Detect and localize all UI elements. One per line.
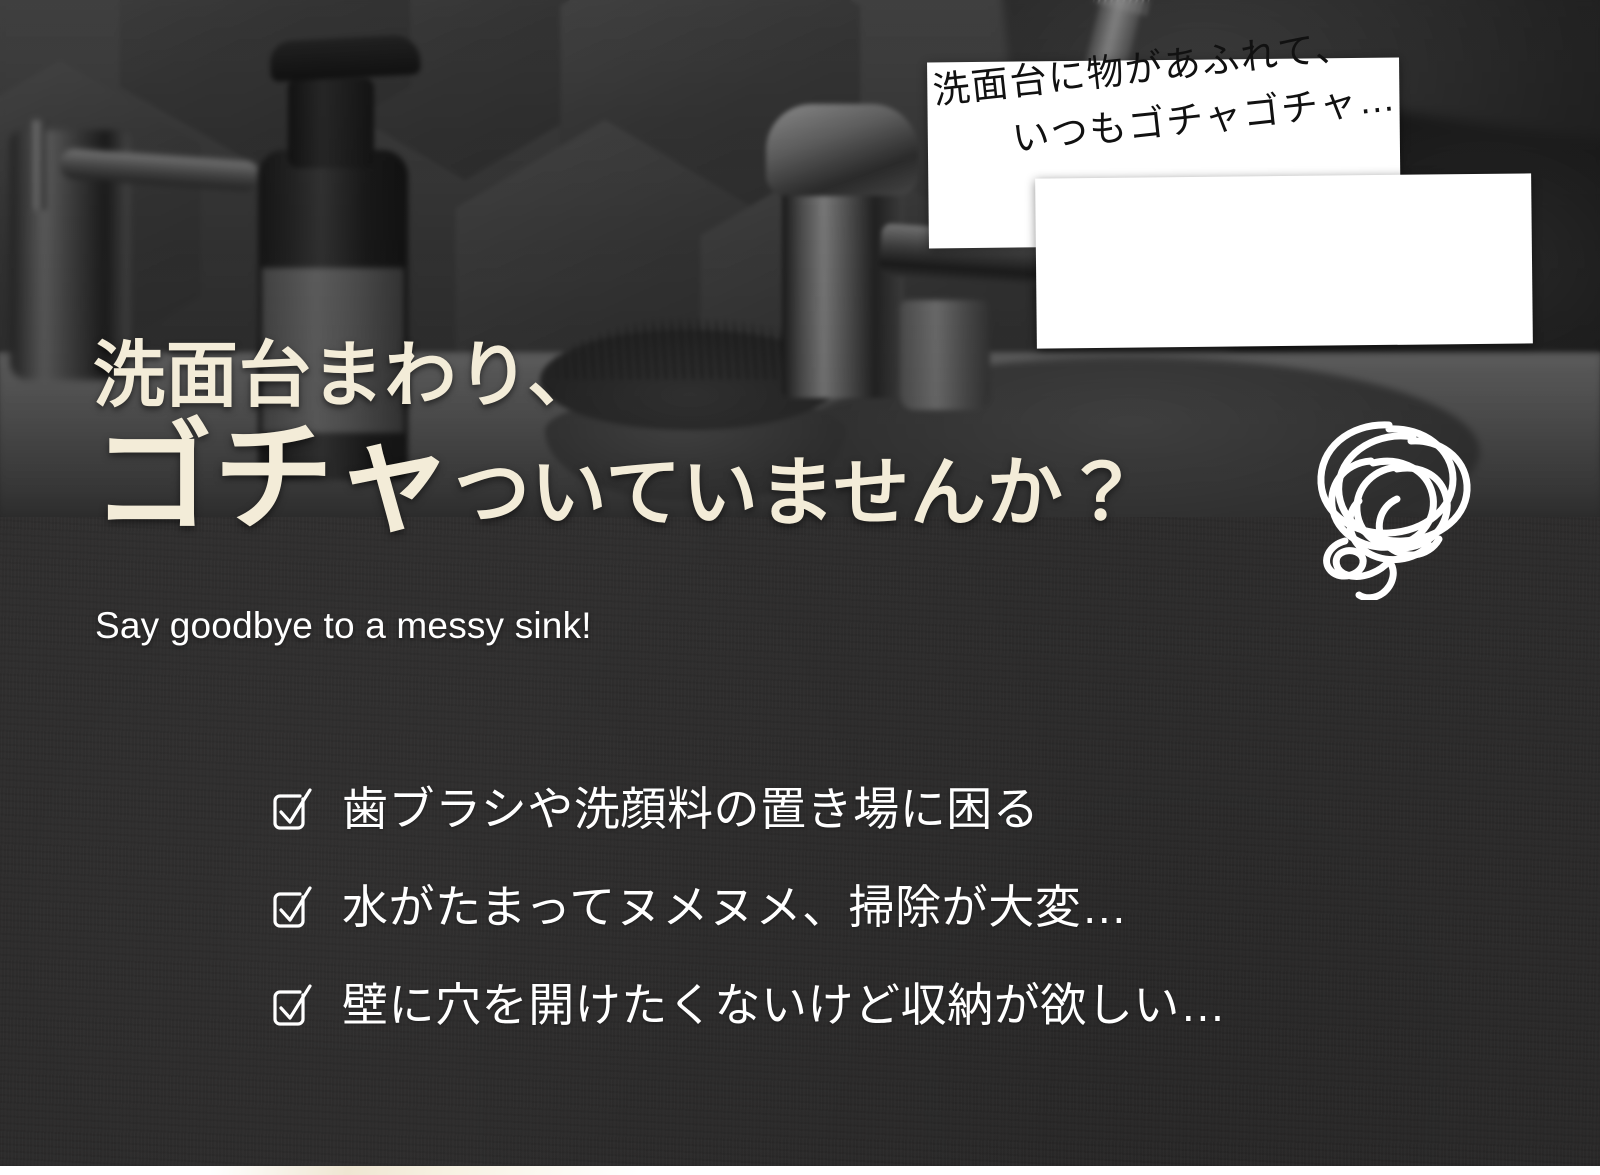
checkbox-checked-icon — [271, 884, 313, 930]
list-item: 歯ブラシや洗顔料の置き場に困る — [271, 760, 1471, 858]
page-title: 洗面台まわり、 ゴチャ ついていませんか？ — [93, 340, 1293, 538]
list-item: 水がたまってヌメヌメ、掃除が大変… — [271, 858, 1471, 956]
tangled-scribble-icon — [1293, 415, 1493, 600]
pain-point-checklist: 歯ブラシや洗顔料の置き場に困る 水がたまってヌメヌメ、掃除が大変… 壁に穴を開け… — [271, 760, 1471, 1054]
bottom-highlight — [210, 1166, 640, 1175]
bottom-divider — [0, 1166, 1600, 1175]
checkbox-checked-icon — [271, 982, 313, 1028]
list-item-label: 壁に穴を開けたくないけど収納が欲しい… — [342, 982, 1227, 1028]
subtitle: Say goodbye to a messy sink! — [95, 605, 592, 647]
headline-line-1: 洗面台まわり、 — [93, 340, 1293, 412]
list-item: 壁に穴を開けたくないけど収納が欲しい… — [271, 956, 1471, 1054]
checkbox-checked-icon — [271, 786, 313, 832]
headline-line-2: ゴチャ ついていませんか？ — [93, 418, 1293, 538]
hero-section: 洗面台に物があふれて、 いつもゴチャゴチャ… 洗面台まわり、 ゴチャ ついていま… — [0, 0, 1600, 1175]
headline-emphasis: ゴチャ — [93, 418, 454, 538]
list-item-label: 歯ブラシや洗顔料の置き場に困る — [342, 786, 1039, 832]
list-item-label: 水がたまってヌメヌメ、掃除が大変… — [342, 884, 1128, 930]
headline-remainder: ついていませんか？ — [454, 456, 1140, 532]
